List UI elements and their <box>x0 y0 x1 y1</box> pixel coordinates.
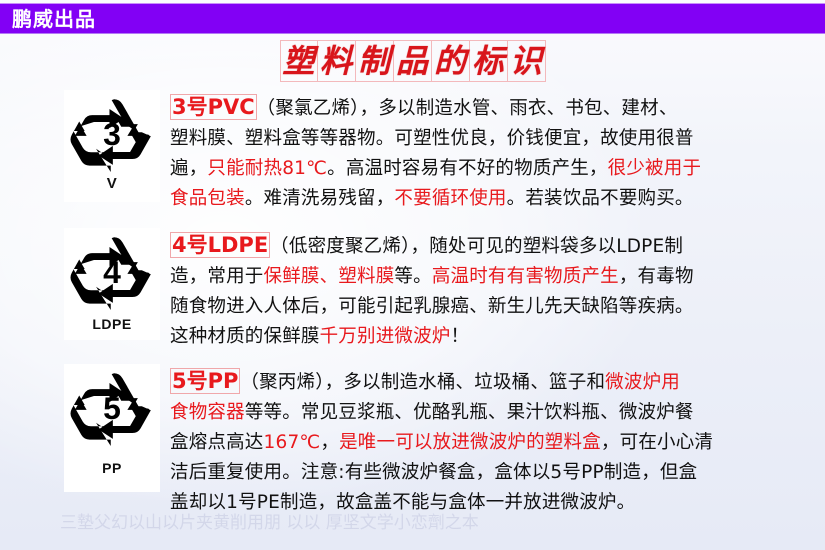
symbol-label: PP <box>64 460 160 476</box>
section-line: 。若装饮品不要购买。 <box>507 188 694 209</box>
section-line-highlight: 167℃ <box>264 432 321 453</box>
section-line: 。难清洗易残留， <box>245 188 395 209</box>
section-line: 造，常用于 <box>170 266 264 287</box>
section-line: ， <box>320 432 339 453</box>
plastic-section-ldpe: 4 LDPE 4号LDPE（低密度聚乙烯），随处可见的塑料袋多以LDPE制 造，… <box>64 228 816 352</box>
section-line-highlight: 微波炉用 <box>605 372 680 393</box>
section-line-highlight: 高温时有有害物质产生 <box>432 266 619 287</box>
section-line: 等等。常见豆浆瓶、优酪乳瓶、果汁饮料瓶、微波炉餐 <box>245 402 694 423</box>
plastic-code-tag: 3号PVC <box>170 94 257 120</box>
section-line-highlight: 是唯一可以放进微波炉的塑料盒 <box>339 432 601 453</box>
svg-text:4: 4 <box>103 254 121 290</box>
title-char: 塑 <box>280 40 318 82</box>
section-body-pvc: 3号PVC（聚氯乙烯），多以制造水管、雨衣、书包、建材、 塑料膜、塑料盒等等器物… <box>170 90 816 214</box>
recycling-triangle-icon: 5 <box>70 370 154 448</box>
plastic-code-tag: 5号PP <box>170 368 240 394</box>
page-title: 塑料制品的标识 <box>0 40 825 82</box>
symbol-label: LDPE <box>64 316 160 332</box>
section-line: 塑料膜、塑料盒等等器物。可塑性优良，价钱便宜，故使用很普 <box>170 128 694 149</box>
section-body-ldpe: 4号LDPE（低密度聚乙烯），随处可见的塑料袋多以LDPE制 造，常用于保鲜膜、… <box>170 228 816 352</box>
section-line: ，可在小心清 <box>601 432 713 453</box>
svg-text:3: 3 <box>103 116 121 152</box>
section-line-highlight: 保鲜膜、塑料膜 <box>264 266 395 287</box>
section-line: （聚氯乙烯），多以制造水管、雨衣、书包、建材、 <box>257 98 678 119</box>
plastic-section-pp: 5 PP 5号PP（聚丙烯），多以制造水桶、垃圾桶、篮子和微波炉用 食物容器等等… <box>64 364 816 518</box>
plastic-section-pvc: 3 V 3号PVC（聚氯乙烯），多以制造水管、雨衣、书包、建材、 塑料膜、塑料盒… <box>64 90 816 214</box>
brand-title: 鹏威出品 <box>12 5 96 34</box>
section-line: 遍， <box>170 158 207 179</box>
section-line: （低密度聚乙烯），随处可见的塑料袋多以LDPE制 <box>270 236 683 257</box>
recycling-symbol-5: 5 PP <box>64 364 160 492</box>
title-char: 的 <box>432 40 470 82</box>
section-line: 盒熔点高达 <box>170 432 264 453</box>
section-line: ！ <box>451 326 470 347</box>
title-char: 识 <box>508 40 546 82</box>
symbol-label: V <box>64 175 160 192</box>
section-line-highlight: 只能耐热81℃ <box>207 158 327 179</box>
title-char: 品 <box>394 40 432 82</box>
svg-text:5: 5 <box>103 390 121 426</box>
section-line: 等。 <box>394 266 431 287</box>
title-char: 标 <box>470 40 508 82</box>
section-line: 洁后重复使用。注意:有些微波炉餐盒，盒体以5号PP制造，但盒 <box>170 462 697 483</box>
poster-page: 鹏威出品 塑料制品的标识 3 V 3号PVC（聚氯乙烯），多以制造水管、雨衣、书… <box>0 0 825 550</box>
title-char: 料 <box>318 40 356 82</box>
section-line-highlight: 不要循环使用 <box>394 188 506 209</box>
section-line-highlight: 食物容器 <box>170 402 245 423</box>
section-line-highlight: 千万别进微波炉 <box>320 326 451 347</box>
recycling-symbol-3: 3 V <box>64 90 160 202</box>
plastic-code-tag: 4号LDPE <box>170 232 270 258</box>
section-line-highlight: 食品包装 <box>170 188 245 209</box>
section-body-pp: 5号PP（聚丙烯），多以制造水桶、垃圾桶、篮子和微波炉用 食物容器等等。常见豆浆… <box>170 364 816 518</box>
section-line: 盖却以1号PE制造，故盒盖不能与盒体一并放进微波炉。 <box>170 492 635 513</box>
recycling-triangle-icon: 3 <box>70 96 154 174</box>
section-line: 随食物进入人体后，可能引起乳腺癌、新生儿先天缺陷等疾病。 <box>170 296 694 317</box>
section-line-highlight: 很少被用于 <box>608 158 702 179</box>
title-char: 制 <box>356 40 394 82</box>
section-line: （聚丙烯），多以制造水桶、垃圾桶、篮子和 <box>240 372 605 393</box>
section-line: 。高温时容易有不好的物质产生， <box>327 158 608 179</box>
recycling-symbol-4: 4 LDPE <box>64 228 160 340</box>
section-line: ，有毒物 <box>619 266 694 287</box>
recycling-triangle-icon: 4 <box>70 234 154 312</box>
section-line: 这种材质的保鲜膜 <box>170 326 320 347</box>
header-bar: 鹏威出品 <box>0 3 825 34</box>
